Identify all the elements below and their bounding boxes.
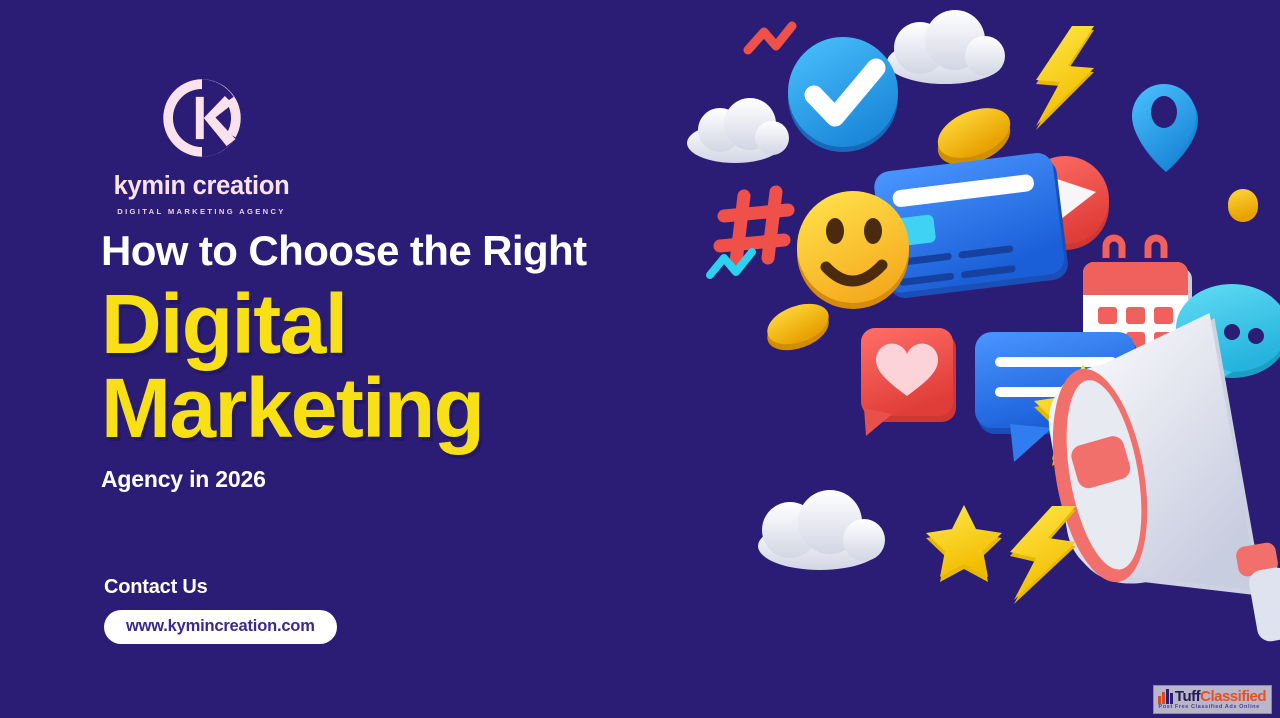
contact-group: Contact Us www.kymincreation.com xyxy=(104,576,337,644)
yellow-sphere-icon xyxy=(1228,189,1258,222)
bar-chart-icon xyxy=(1158,689,1173,704)
headline-line-3: Marketing xyxy=(101,367,661,450)
contact-label: Contact Us xyxy=(104,576,337,599)
cloud-icon xyxy=(687,98,789,163)
tuffclassified-watermark: TuffClassified Post Free Classified Ads … xyxy=(1153,685,1272,714)
website-pill[interactable]: www.kymincreation.com xyxy=(104,610,337,644)
red-zigzag-icon xyxy=(748,26,792,50)
heart-like-bubble-icon xyxy=(861,328,956,436)
icon-cluster-illustration xyxy=(680,0,1280,718)
headline-line-4: Agency in 2026 xyxy=(101,466,661,493)
watermark-brand-primary: Tuff xyxy=(1175,688,1200,705)
cloud-icon xyxy=(887,10,1005,84)
logo-tagline: DIGITAL MARKETING AGENCY xyxy=(104,207,299,216)
kymin-circle-k-monogram-icon xyxy=(158,74,246,162)
headline-group: How to Choose the Right Digital Marketin… xyxy=(101,228,661,493)
lightning-bolt-icon xyxy=(1036,26,1094,130)
watermark-tagline: Post Free Classified Ads Online xyxy=(1158,705,1259,711)
gold-coin-icon xyxy=(762,296,834,358)
watermark-brand-secondary: Classified xyxy=(1200,688,1266,705)
marketing-banner: kymin creation DIGITAL MARKETING AGENCY … xyxy=(0,0,1280,718)
logo-name: kymin creation xyxy=(104,174,299,200)
watermark-brand-row: TuffClassified xyxy=(1158,689,1266,704)
star-icon xyxy=(926,505,1002,582)
left-content-panel: kymin creation DIGITAL MARKETING AGENCY … xyxy=(0,0,660,718)
headline-line-1: How to Choose the Right xyxy=(101,228,661,273)
smiley-emoji-icon xyxy=(797,191,909,309)
headline-line-2: Digital xyxy=(101,283,661,366)
location-pin-icon xyxy=(1132,84,1198,172)
cloud-icon xyxy=(758,490,885,570)
lightning-bolt-icon xyxy=(1010,506,1076,604)
blue-check-circle-icon xyxy=(788,37,898,152)
brand-logo: kymin creation DIGITAL MARKETING AGENCY xyxy=(104,74,299,216)
